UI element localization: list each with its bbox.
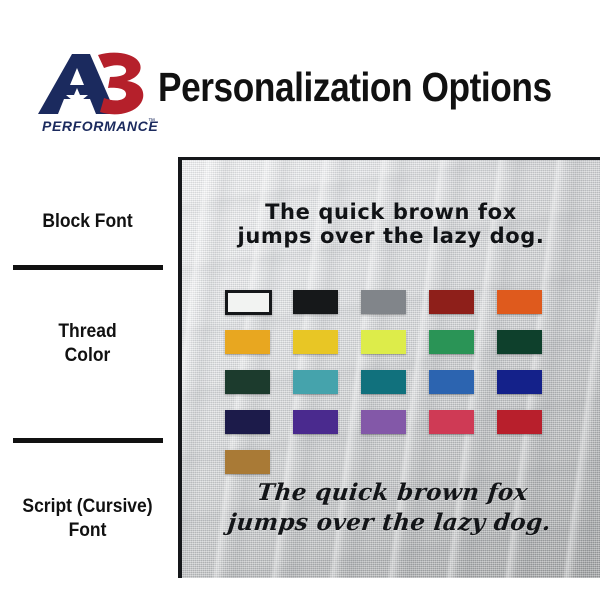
swatch-cell [429, 362, 497, 402]
divider-line-2 [13, 438, 163, 443]
swatch-cell [361, 442, 429, 482]
swatch-placeholder [429, 450, 474, 474]
swatch-row [225, 362, 565, 402]
thread-color-swatch-midnight-navy[interactable] [225, 410, 270, 434]
page-title: Personalization Options [158, 58, 528, 116]
thread-color-swatch-white[interactable] [225, 290, 272, 315]
swatch-row [225, 402, 565, 442]
swatch-placeholder [497, 450, 542, 474]
label-thread-color-line1: Thread [7, 320, 168, 344]
thread-color-swatch-neon-yellow[interactable] [361, 330, 406, 354]
thread-color-swatch-grid [225, 282, 565, 482]
thread-color-swatch-forest-green[interactable] [225, 370, 270, 394]
swatch-cell [497, 442, 565, 482]
label-column: Block Font Thread Color Script (Cursive)… [0, 150, 175, 600]
thread-color-swatch-navy-blue[interactable] [497, 370, 542, 394]
swatch-row [225, 282, 565, 322]
thread-color-swatch-black[interactable] [293, 290, 338, 314]
label-script-font-line1: Script (Cursive) [7, 495, 168, 519]
page-header: PERFORMANCE ™ Personalization Options [0, 0, 600, 150]
swatch-cell [497, 322, 565, 362]
swatch-placeholder [293, 450, 338, 474]
swatch-row [225, 442, 565, 482]
thread-color-swatch-teal[interactable] [361, 370, 406, 394]
swatch-cell [293, 442, 361, 482]
swatch-cell [293, 402, 361, 442]
swatch-cell [225, 442, 293, 482]
swatch-cell [429, 442, 497, 482]
swatch-cell [497, 282, 565, 322]
swatch-row [225, 322, 565, 362]
a3-performance-logo: PERFORMANCE ™ [28, 52, 158, 138]
thread-color-swatch-orange[interactable] [497, 290, 542, 314]
label-thread-color-line2: Color [7, 344, 168, 368]
thread-color-swatch-kelly-green[interactable] [429, 330, 474, 354]
swatch-cell [361, 282, 429, 322]
thread-color-swatch-yellow[interactable] [293, 330, 338, 354]
thread-color-swatch-metallic-gold[interactable] [225, 450, 270, 474]
thread-color-swatch-grey[interactable] [361, 290, 406, 314]
block-font-sample: The quick brown fox jumps over the lazy … [182, 200, 600, 248]
swatch-cell [361, 322, 429, 362]
script-font-sample-line1: The quick brown fox [182, 478, 600, 508]
swatch-cell [429, 282, 497, 322]
swatch-cell [361, 402, 429, 442]
swatch-cell [225, 282, 293, 322]
thread-color-swatch-dark-red[interactable] [429, 290, 474, 314]
thread-color-swatch-purple[interactable] [293, 410, 338, 434]
swatch-cell [293, 362, 361, 402]
divider-line-1 [13, 265, 163, 270]
script-font-sample: The quick brown fox jumps over the lazy … [179, 478, 600, 538]
swatch-cell [497, 362, 565, 402]
thread-color-swatch-light-teal[interactable] [293, 370, 338, 394]
thread-color-swatch-red[interactable] [497, 410, 542, 434]
thread-color-swatch-light-purple[interactable] [361, 410, 406, 434]
thread-color-swatch-pink[interactable] [429, 410, 474, 434]
swatch-cell [429, 322, 497, 362]
thread-color-swatch-gold[interactable] [225, 330, 270, 354]
block-font-sample-line2: jumps over the lazy dog. [182, 224, 600, 248]
thread-color-swatch-dark-green[interactable] [497, 330, 542, 354]
swatch-cell [497, 402, 565, 442]
script-font-sample-line2: jumps over the lazy dog. [179, 508, 600, 538]
swatch-cell [225, 322, 293, 362]
logo-trademark: ™ [148, 118, 155, 125]
label-script-font: Script (Cursive) Font [7, 495, 168, 543]
swatch-cell [225, 362, 293, 402]
thread-color-swatch-royal-blue[interactable] [429, 370, 474, 394]
label-script-font-line2: Font [7, 519, 168, 543]
swatch-placeholder [361, 450, 406, 474]
label-block-font: Block Font [7, 210, 168, 234]
swatch-cell [429, 402, 497, 442]
logo-wordmark: PERFORMANCE [42, 118, 158, 134]
swatch-cell [293, 322, 361, 362]
swatch-cell [225, 402, 293, 442]
label-thread-color: Thread Color [7, 320, 168, 368]
logo-number-3 [98, 53, 143, 115]
block-font-sample-line1: The quick brown fox [182, 200, 600, 224]
embroidery-sample-panel: The quick brown fox jumps over the lazy … [178, 157, 600, 578]
swatch-cell [361, 362, 429, 402]
swatch-cell [293, 282, 361, 322]
